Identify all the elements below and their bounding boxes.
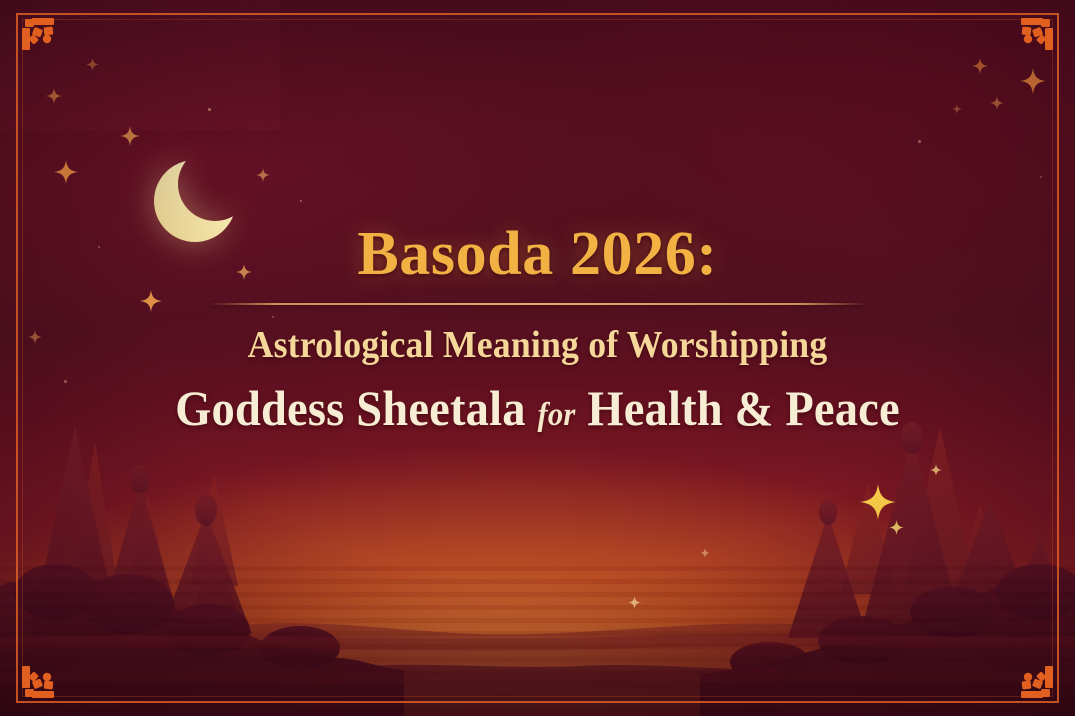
headline-part-two: Health & Peace — [587, 380, 899, 436]
page-title: Basoda 2026: — [0, 222, 1075, 287]
title-divider — [210, 303, 866, 305]
poster-headline: Goddess Sheetala for Health & Peace — [38, 379, 1038, 437]
headline-connector: for — [537, 397, 575, 433]
festival-poster: Basoda 2026: Astrological Meaning of Wor… — [0, 0, 1075, 716]
poster-text-block: Basoda 2026: Astrological Meaning of Wor… — [0, 222, 1075, 437]
poster-subtitle: Astrological Meaning of Worshipping — [32, 323, 1043, 367]
water-reflection-bands — [0, 566, 1075, 716]
headline-part-one: Goddess Sheetala — [175, 380, 525, 436]
